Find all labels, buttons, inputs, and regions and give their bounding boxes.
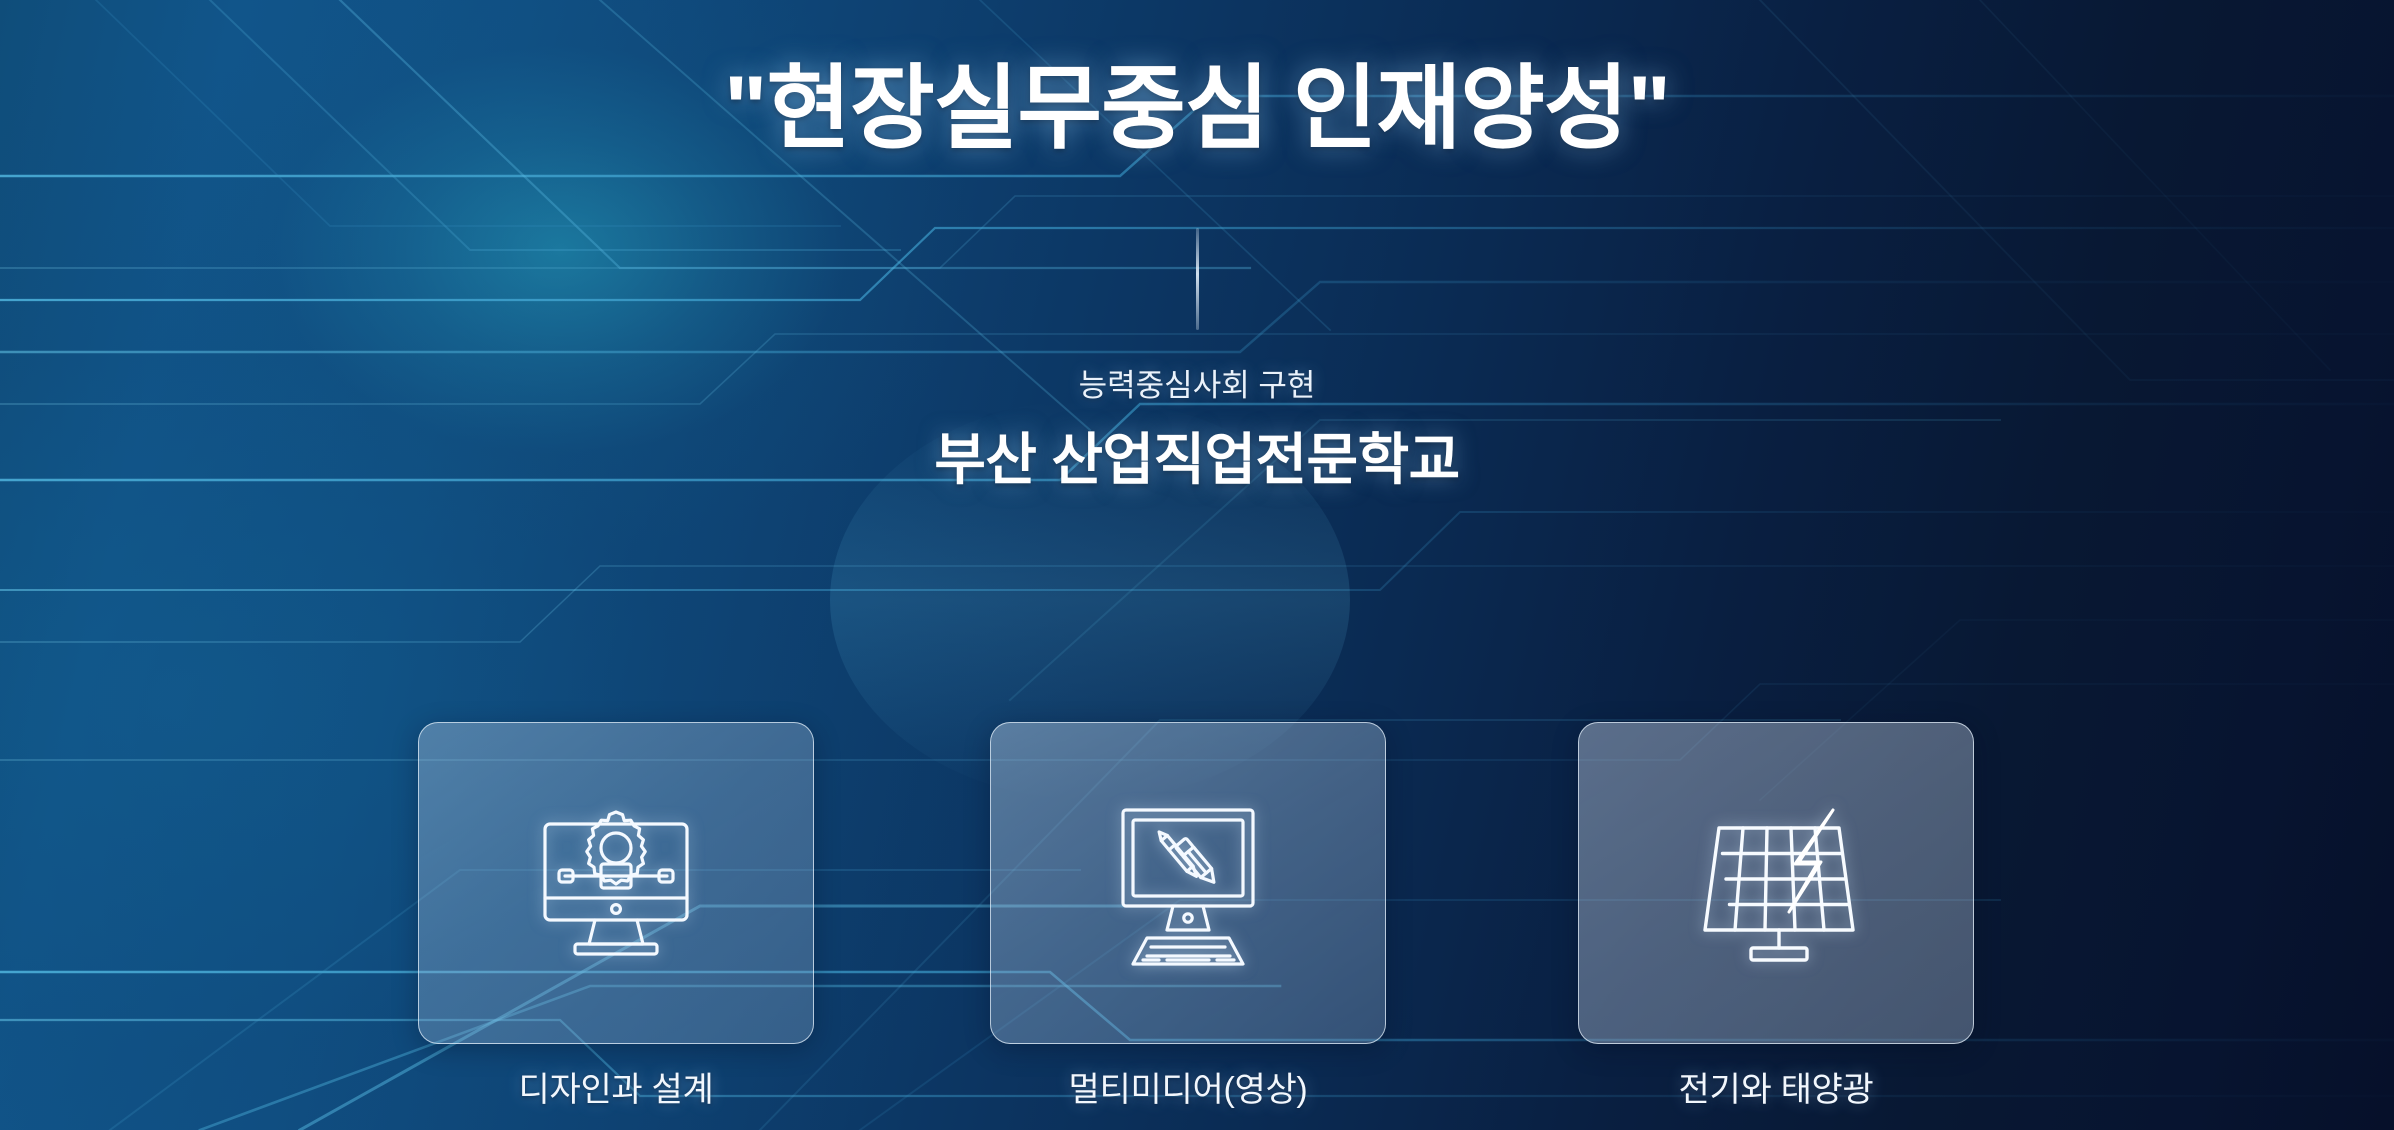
program-card-solar[interactable] xyxy=(1578,722,1974,1044)
monitor-brush-pencil-keyboard-icon xyxy=(1093,788,1283,978)
monitor-gear-icon xyxy=(521,788,711,978)
hero-banner: "현장실무중심 인재양성" 능력중심사회 구현 부산 산업직업전문학교 xyxy=(0,0,2394,1130)
card-label-design: 디자인과 설계 xyxy=(418,1062,814,1111)
program-card-list: 디자인과 설계 멀티미디어(영상) 전기와 태양광 xyxy=(418,722,1974,1047)
card-label-multimedia: 멀티미디어(영상) xyxy=(990,1062,1386,1111)
program-card-multimedia[interactable] xyxy=(990,722,1386,1044)
program-card-design[interactable] xyxy=(418,722,814,1044)
card-label-solar: 전기와 태양광 xyxy=(1578,1062,1974,1111)
solar-panel-lightning-icon xyxy=(1681,788,1871,978)
